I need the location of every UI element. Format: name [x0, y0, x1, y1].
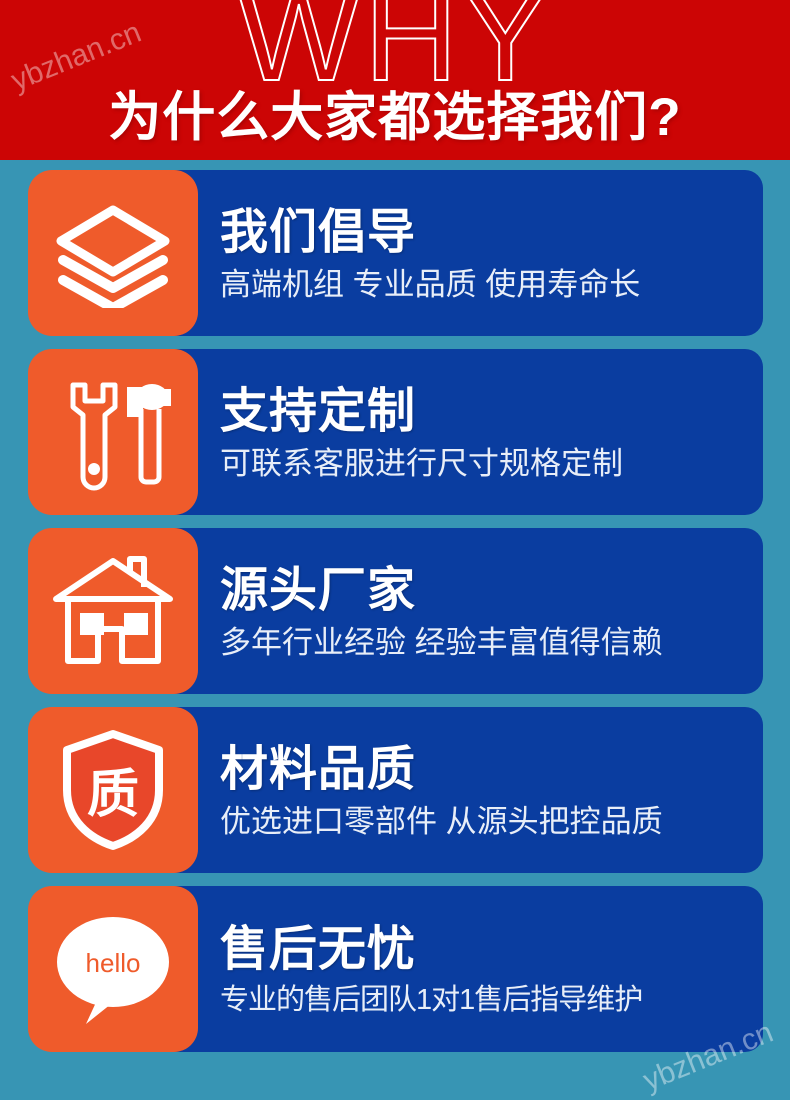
card-subtitle: 专业的售后团队1对1售后指导维护 — [220, 983, 642, 1018]
card-text-block: 源头厂家 多年行业经验 经验丰富值得信赖 — [220, 528, 663, 694]
card-subtitle: 可联系客服进行尺寸规格定制 — [220, 445, 623, 482]
card-title: 我们倡导 — [220, 207, 640, 260]
card-text-block: 材料品质 优选进口零部件 从源头把控品质 — [220, 707, 663, 873]
why-outline-text: WHY — [0, 0, 790, 100]
page-header: WHY 为什么大家都选择我们? — [0, 0, 790, 160]
feature-card[interactable]: 质 材料品质 优选进口零部件 从源头把控品质 — [28, 707, 763, 873]
shield-icon-char: 质 — [87, 766, 139, 824]
page-title: 为什么大家都选择我们? — [0, 88, 790, 149]
card-subtitle: 多年行业经验 经验丰富值得信赖 — [220, 624, 663, 661]
card-text-block: 我们倡导 高端机组 专业品质 使用寿命长 — [220, 170, 640, 336]
bubble-icon-text: hello — [86, 948, 141, 978]
feature-list: 我们倡导 高端机组 专业品质 使用寿命长 支持定制 可联系客服进行尺寸规格定制 — [0, 160, 790, 1052]
card-title: 支持定制 — [220, 386, 623, 439]
wrench-hammer-icon — [28, 349, 198, 515]
shield-quality-icon: 质 — [28, 707, 198, 873]
card-subtitle: 优选进口零部件 从源头把控品质 — [220, 803, 663, 840]
feature-card[interactable]: hello 售后无忧 专业的售后团队1对1售后指导维护 — [28, 886, 763, 1052]
card-subtitle: 高端机组 专业品质 使用寿命长 — [220, 266, 640, 303]
house-factory-icon — [28, 528, 198, 694]
card-text-block: 售后无忧 专业的售后团队1对1售后指导维护 — [220, 886, 642, 1052]
feature-card[interactable]: 支持定制 可联系客服进行尺寸规格定制 — [28, 349, 763, 515]
card-text-block: 支持定制 可联系客服进行尺寸规格定制 — [220, 349, 623, 515]
feature-card[interactable]: 我们倡导 高端机组 专业品质 使用寿命长 — [28, 170, 763, 336]
card-title: 材料品质 — [220, 744, 663, 797]
card-title: 售后无忧 — [220, 924, 642, 977]
layers-stack-icon — [28, 170, 198, 336]
speech-bubble-icon: hello — [28, 886, 198, 1052]
feature-card[interactable]: 源头厂家 多年行业经验 经验丰富值得信赖 — [28, 528, 763, 694]
card-title: 源头厂家 — [220, 565, 663, 618]
